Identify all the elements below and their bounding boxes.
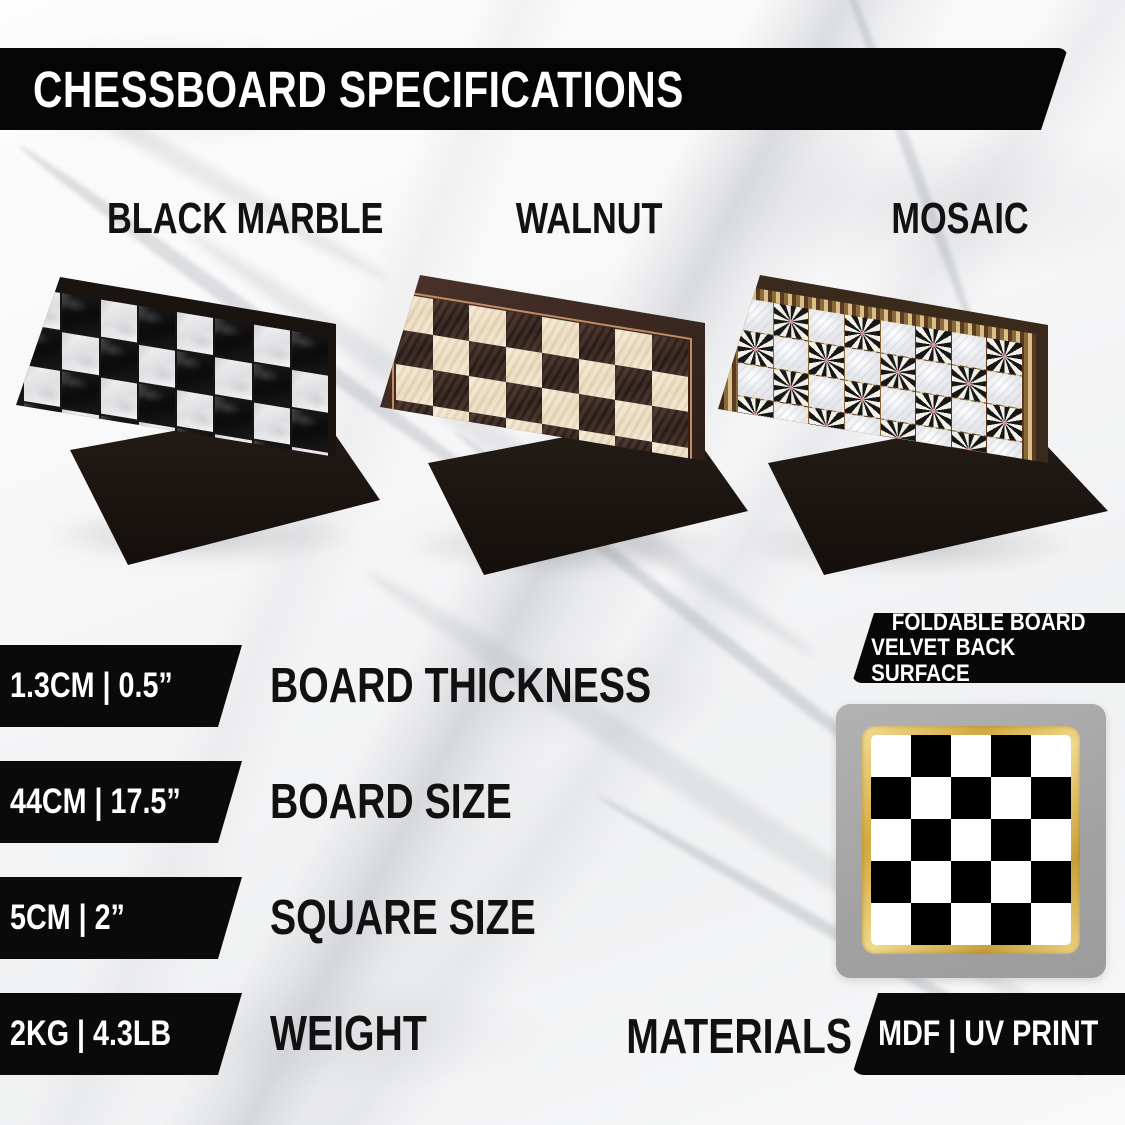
spec-row-weight: 2KG | 4.3LB WEIGHT: [0, 993, 466, 1075]
mini-chessboard: [871, 735, 1071, 945]
spec-row-square-size: 5CM | 2” SQUARE SIZE: [0, 877, 602, 959]
materials-label: MATERIALS: [598, 1013, 880, 1062]
materials-value-tag: MDF | UV PRINT: [852, 993, 1125, 1075]
spec-value-tag: 44CM | 17.5”: [0, 761, 252, 843]
spec-value-tag: 2KG | 4.3LB: [0, 993, 252, 1075]
spec-value: 2KG | 4.3LB: [10, 1014, 171, 1054]
spec-label: WEIGHT: [270, 1010, 466, 1059]
foldable-board-badge: FOLDABLE BOARD VELVET BACK SURFACE: [852, 613, 1125, 683]
product-image-black-marble: [10, 275, 370, 575]
back-surface-preview-panel: [836, 704, 1106, 978]
spec-value: 1.3CM | 0.5”: [10, 666, 173, 706]
product-label-text: MOSAIC: [891, 197, 1028, 241]
spec-label: BOARD SIZE: [270, 778, 572, 827]
product-image-walnut: [370, 275, 750, 580]
foldable-badge-line2: VELVET BACK SURFACE: [852, 635, 1125, 686]
spec-label: SQUARE SIZE: [270, 894, 602, 943]
product-label-walnut: WALNUT: [495, 197, 683, 241]
spec-value: 44CM | 17.5”: [10, 782, 181, 822]
spec-label: BOARD THICKNESS: [270, 662, 746, 711]
spec-value-tag: 1.3CM | 0.5”: [0, 645, 252, 727]
product-label-black-marble: BLACK MARBLE: [68, 197, 422, 241]
spec-value-tag: 5CM | 2”: [0, 877, 252, 959]
page-title-banner: CHESSBOARD SPECIFICATIONS: [0, 48, 1068, 130]
product-image-mosaic: [710, 275, 1110, 580]
spec-row-board-thickness: 1.3CM | 0.5” BOARD THICKNESS: [0, 645, 746, 727]
materials-value: MDF | UV PRINT: [878, 1014, 1098, 1054]
product-label-text: WALNUT: [516, 197, 663, 241]
infographic-canvas: CHESSBOARD SPECIFICATIONS BLACK MARBLE W…: [0, 0, 1125, 1125]
product-label-text: BLACK MARBLE: [107, 197, 383, 241]
gold-frame: [862, 726, 1080, 954]
spec-value: 5CM | 2”: [10, 898, 125, 938]
foldable-badge-line1: FOLDABLE BOARD: [876, 610, 1101, 635]
product-label-mosaic: MOSAIC: [872, 197, 1048, 241]
spec-row-board-size: 44CM | 17.5” BOARD SIZE: [0, 761, 572, 843]
page-title: CHESSBOARD SPECIFICATIONS: [33, 64, 684, 115]
